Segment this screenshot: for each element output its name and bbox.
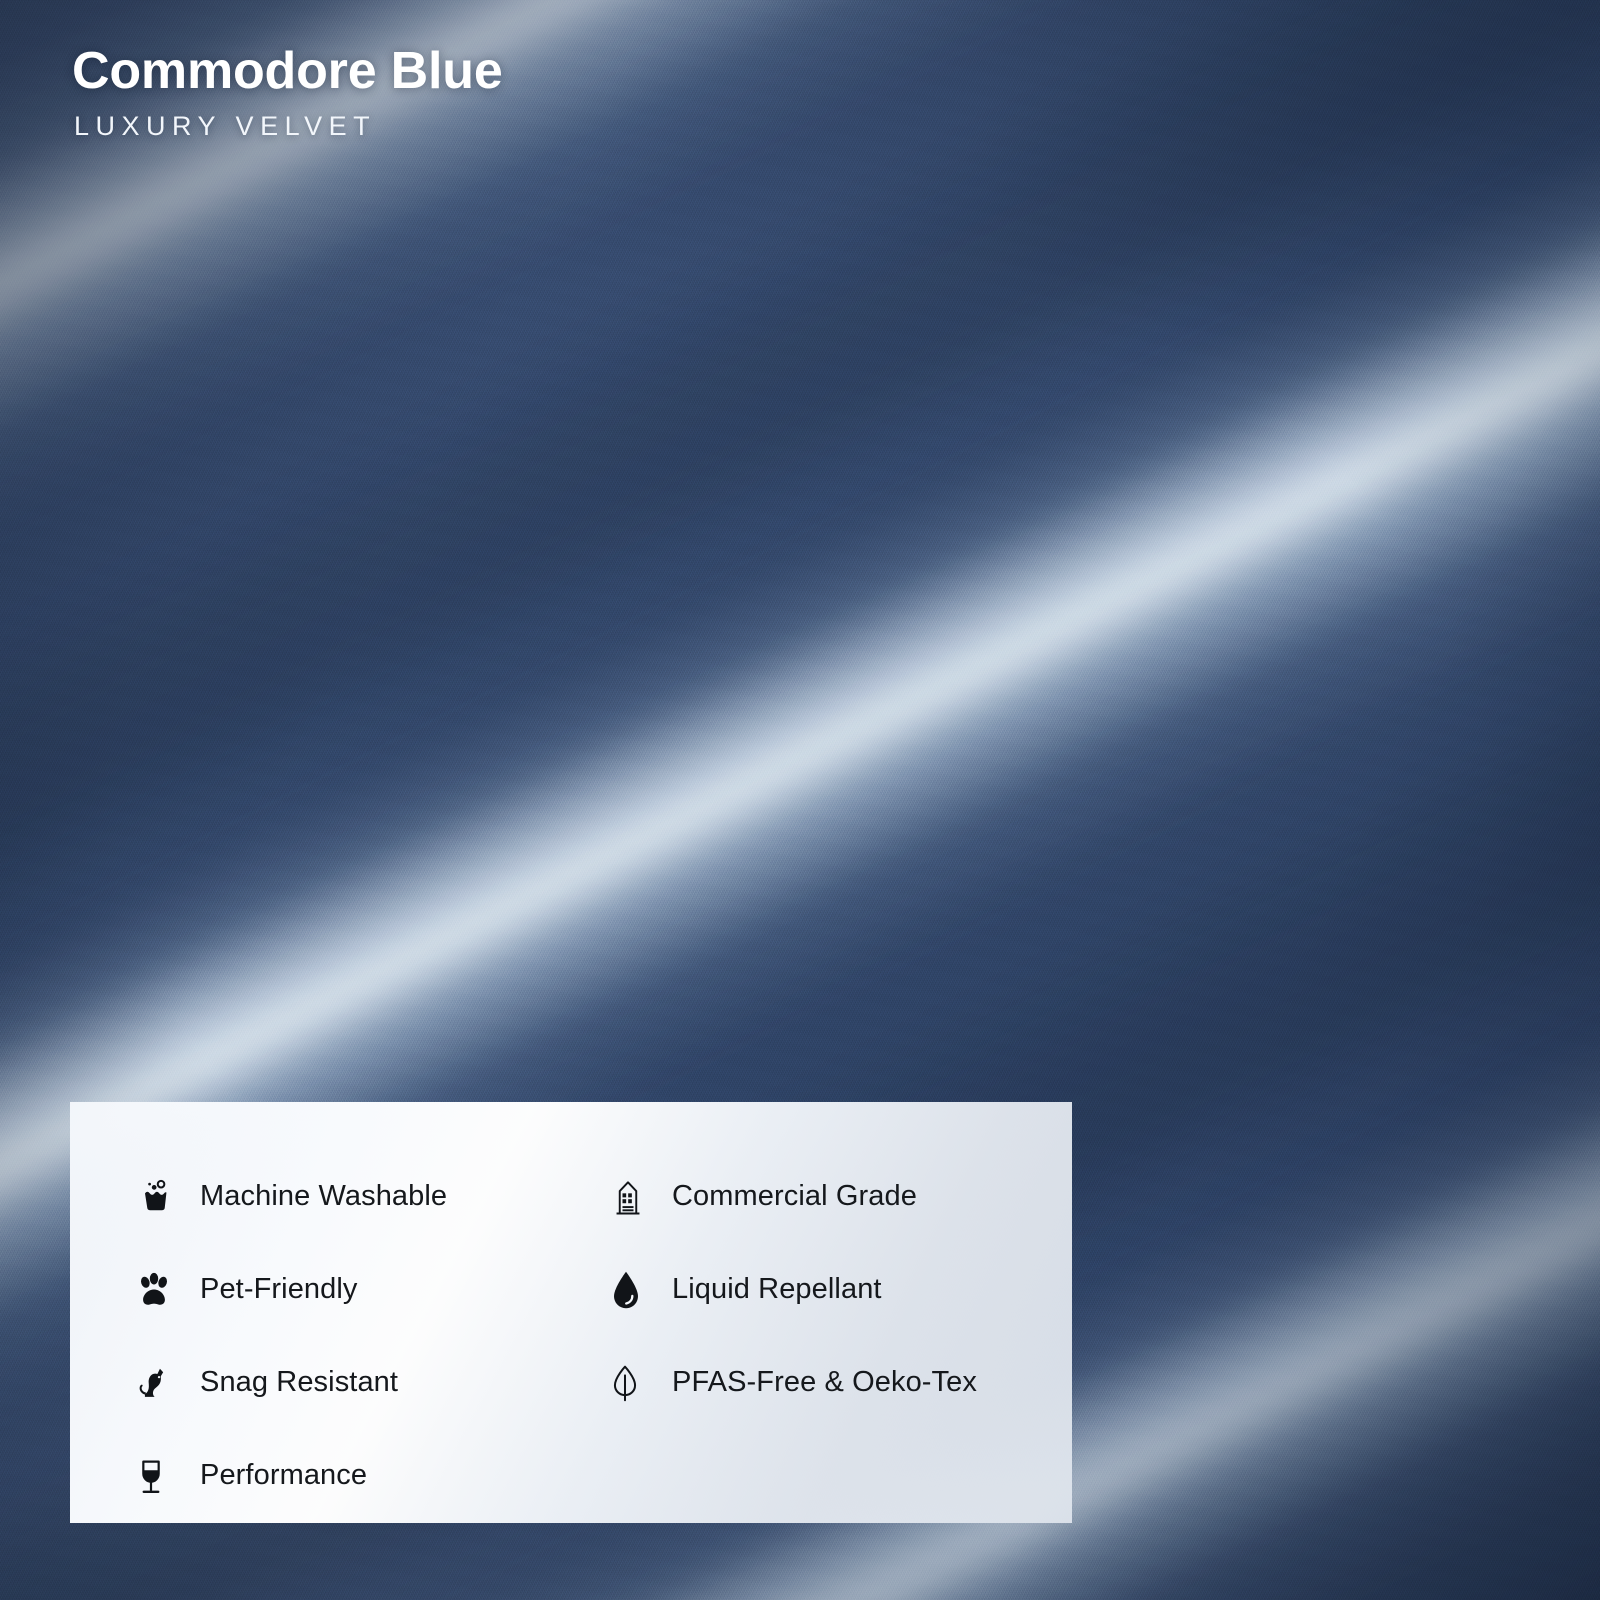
product-swatch-image: Commodore Blue LUXURY VELVET Machine Was… [0,0,1600,1600]
feature-item-performance: Performance [124,1429,596,1522]
feature-label: PFAS-Free & Oeko-Tex [672,1366,977,1399]
feature-item-snag-resistant: Snag Resistant [124,1336,596,1429]
product-name: Commodore Blue [72,44,503,99]
paw-print-icon [124,1260,200,1320]
feature-panel: Machine Washable Commercial Grade [70,1102,1072,1523]
feature-grid: Machine Washable Commercial Grade [70,1150,1072,1522]
feature-label: Liquid Repellant [672,1273,882,1306]
feature-label: Machine Washable [200,1180,447,1213]
feature-label: Performance [200,1459,367,1492]
product-subtitle: LUXURY VELVET [74,113,503,140]
water-droplet-icon [596,1260,672,1320]
building-icon [596,1167,672,1227]
title-block: Commodore Blue LUXURY VELVET [72,44,503,140]
wash-tub-icon [124,1167,200,1227]
feature-item-empty [596,1429,1072,1522]
wine-glass-icon [124,1446,200,1506]
feature-item-pfas-free-oeko-tex: PFAS-Free & Oeko-Tex [596,1336,1072,1429]
leaf-icon [596,1353,672,1413]
feature-item-machine-washable: Machine Washable [124,1150,596,1243]
feature-item-liquid-repellant: Liquid Repellant [596,1243,1072,1336]
feature-label: Pet-Friendly [200,1273,358,1306]
feature-label: Snag Resistant [200,1366,398,1399]
feature-item-pet-friendly: Pet-Friendly [124,1243,596,1336]
cat-icon [124,1353,200,1413]
feature-label: Commercial Grade [672,1180,917,1213]
feature-item-commercial-grade: Commercial Grade [596,1150,1072,1243]
